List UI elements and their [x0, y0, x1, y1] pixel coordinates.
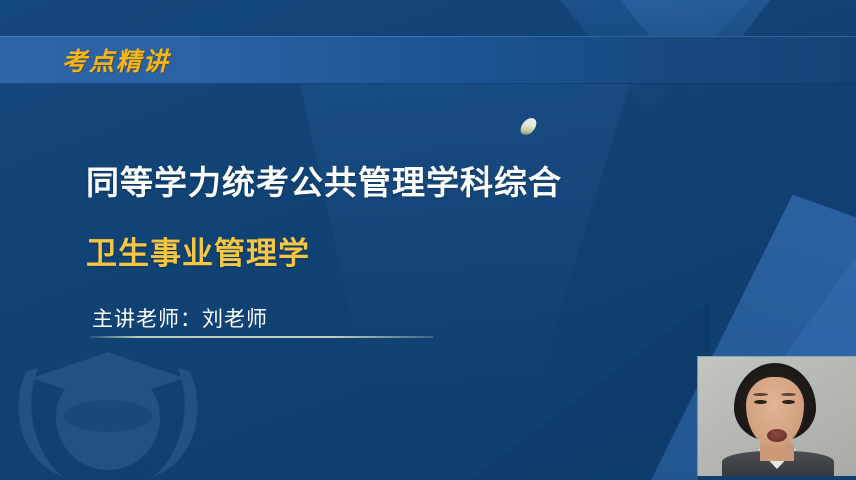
webcam-person-eye-right — [782, 400, 795, 404]
slide-main-title: 同等学力统考公共管理学科综合 — [86, 156, 562, 204]
webcam-person-brow-right — [781, 393, 796, 396]
presenter-underline-rule — [90, 336, 433, 338]
slide-subtitle: 卫生事业管理学 — [86, 228, 310, 273]
webcam-person-brow-left — [753, 393, 768, 396]
lecture-slide-screen: 考点精讲 同等学力统考公共管理学科综合 卫生事业管理学 主讲老师：刘老师 — [0, 0, 856, 480]
section-banner-label: 考点精讲 — [62, 42, 170, 78]
webcam-person-eye-left — [754, 400, 767, 404]
instructor-webcam-panel[interactable] — [697, 356, 856, 477]
webcam-bottom-strip — [697, 476, 856, 480]
webcam-person-mouth — [767, 429, 787, 442]
presenter-name-label: 主讲老师：刘老师 — [92, 303, 268, 333]
